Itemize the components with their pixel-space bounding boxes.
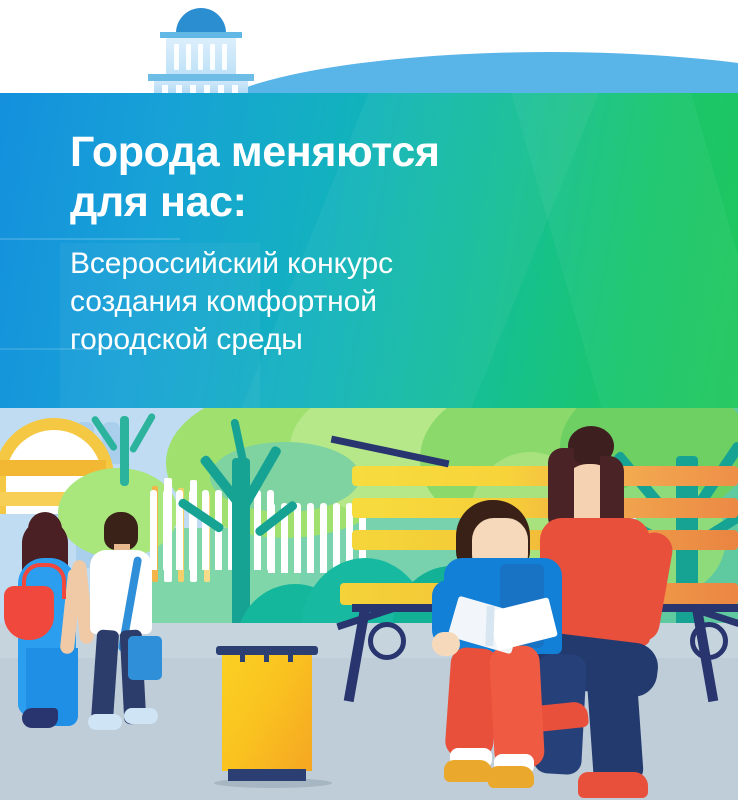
park-illustration [0,408,738,800]
building-column [222,44,227,70]
building-column [198,44,203,70]
building-lower-cornice [148,74,254,81]
bench-ironwork [368,622,406,660]
red-handbag [4,586,54,640]
red-sneaker [578,772,648,798]
page-title: Города меняются для нас: [70,127,440,227]
building-column [210,44,215,70]
yellow-shoe [444,760,492,782]
banner-hairline [0,238,180,240]
blue-satchel [128,636,162,680]
yellow-shoe [488,766,534,788]
building-column [186,44,191,70]
building-column [174,44,179,70]
poster-root: Города меняются для нас: Всероссийский к… [0,0,738,800]
bench-ironwork [690,622,728,660]
page-subtitle: Всероссийский конкурс создания комфортно… [70,245,393,359]
